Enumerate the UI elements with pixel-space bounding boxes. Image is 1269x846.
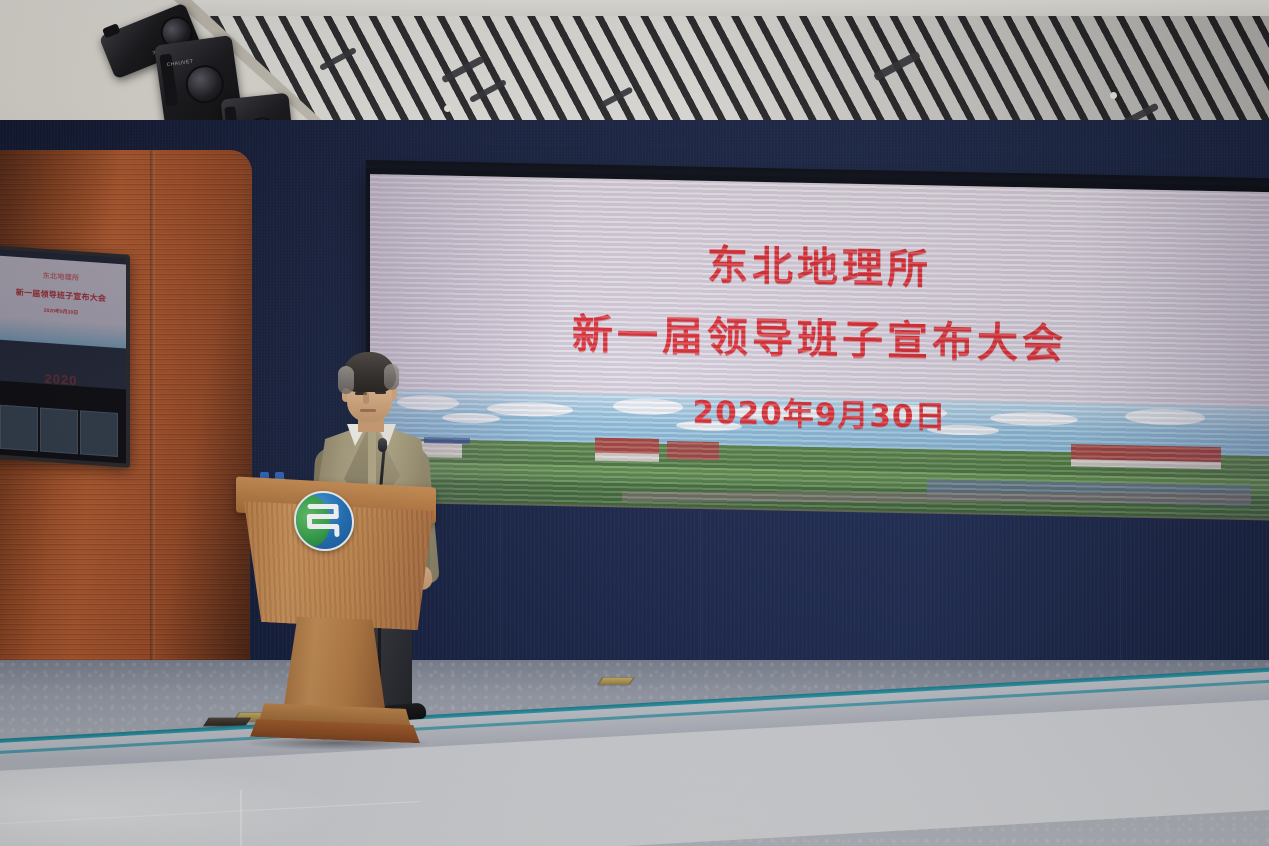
hair-gray-left [338,366,354,394]
hair-gray-right [384,364,399,390]
preview-line3: 2020年9月30日 [0,303,126,319]
preview-monitor-screen: 东北地理所 新一届领导班子宣布大会 2020年9月30日 2020 [0,249,126,463]
base-panel-seam [700,510,701,678]
preview-thumbnail [0,405,38,452]
campus-building [667,441,719,460]
led-screen-surface: 东北地理所 新一届领导班子宣布大会 2020年9月30日 [370,174,1269,526]
mouth [360,409,376,412]
slide-path [622,492,1251,504]
floor-light-reflection [0,760,340,846]
preview-line1: 东北地理所 [0,267,126,286]
preview-line2: 新一届领导班子宣布大会 [0,285,126,305]
microphone-head[interactable] [378,438,387,452]
preview-thumbnail-strip [0,380,126,463]
preview-thumbnail [80,410,118,457]
emblem-wave [333,504,339,519]
slide-title-line1: 东北地理所 [370,174,1269,302]
ceiling-sprinkler [1110,92,1117,99]
campus-building [595,452,659,461]
emblem-wave [307,514,313,529]
photo-scene: XB CHAUVET XB XB XB 东北地理所 新一届领导班子宣布大会 20… [0,0,1269,846]
led-screen: 东北地理所 新一届领导班子宣布大会 2020年9月30日 [366,168,1269,530]
emblem-wave [334,524,339,537]
preview-thumbnail [40,408,78,455]
preview-monitor[interactable]: 东北地理所 新一届领导班子宣布大会 2020年9月30日 2020 [0,245,130,468]
base-panel-seam [500,506,501,674]
floor-box-cover [597,677,634,685]
slide-text-block: 东北地理所 新一届领导班子宣布大会 2020年9月30日 [370,174,1269,443]
preview-slide: 东北地理所 新一届领导班子宣布大会 2020年9月30日 [0,255,126,348]
podium-column [283,616,386,716]
nose [363,392,369,404]
ceiling-sprinkler [444,105,451,112]
